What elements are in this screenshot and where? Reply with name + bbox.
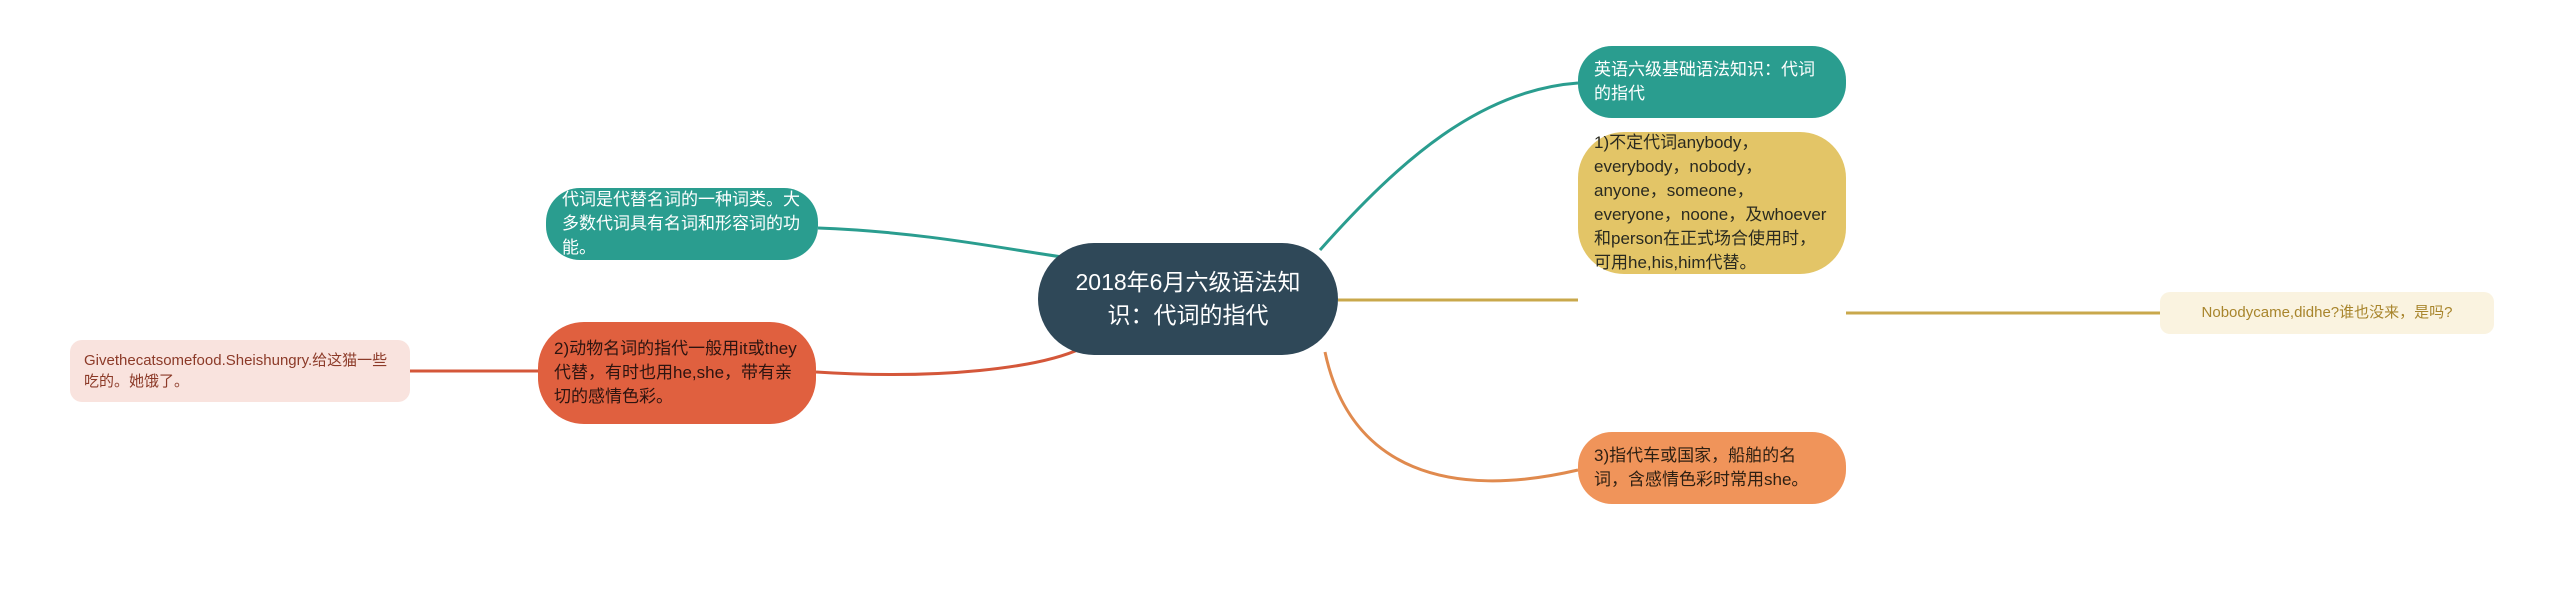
connector-root-to-teal-top (1320, 83, 1578, 250)
root-node-label: 2018年6月六级语法知识：代词的指代 (1056, 266, 1320, 331)
connector-root-to-teal-left (818, 228, 1070, 258)
leaf-node-cream-label: Nobodycame,didhe?谁也没来，是吗? (2202, 302, 2453, 323)
connector-root-to-orange (1325, 352, 1578, 481)
branch-node-yellow[interactable]: 1)不定代词anybody，everybody，nobody，anyone，so… (1578, 132, 1846, 274)
leaf-node-pink[interactable]: Givethecatsomefood.Sheishungry.给这猫一些吃的。她… (70, 340, 410, 402)
mindmap-canvas: 2018年6月六级语法知识：代词的指代 英语六级基础语法知识：代词的指代 1)不… (0, 0, 2560, 597)
root-node[interactable]: 2018年6月六级语法知识：代词的指代 (1038, 243, 1338, 355)
branch-node-yellow-label: 1)不定代词anybody，everybody，nobody，anyone，so… (1594, 131, 1830, 276)
branch-node-teal-top[interactable]: 英语六级基础语法知识：代词的指代 (1578, 46, 1846, 118)
branch-node-red[interactable]: 2)动物名词的指代一般用it或they代替，有时也用he,she，带有亲切的感情… (538, 322, 816, 424)
connector-root-to-red (816, 348, 1082, 375)
leaf-node-cream[interactable]: Nobodycame,didhe?谁也没来，是吗? (2160, 292, 2494, 334)
branch-node-orange-label: 3)指代车或国家，船舶的名词，含感情色彩时常用she。 (1594, 444, 1830, 492)
branch-node-teal-left[interactable]: 代词是代替名词的一种词类。大多数代词具有名词和形容词的功能。 (546, 188, 818, 260)
branch-node-red-label: 2)动物名词的指代一般用it或they代替，有时也用he,she，带有亲切的感情… (554, 337, 800, 409)
leaf-node-pink-label: Givethecatsomefood.Sheishungry.给这猫一些吃的。她… (84, 350, 396, 393)
branch-node-teal-left-label: 代词是代替名词的一种词类。大多数代词具有名词和形容词的功能。 (562, 188, 802, 260)
branch-node-teal-top-label: 英语六级基础语法知识：代词的指代 (1594, 58, 1830, 106)
branch-node-orange[interactable]: 3)指代车或国家，船舶的名词，含感情色彩时常用she。 (1578, 432, 1846, 504)
